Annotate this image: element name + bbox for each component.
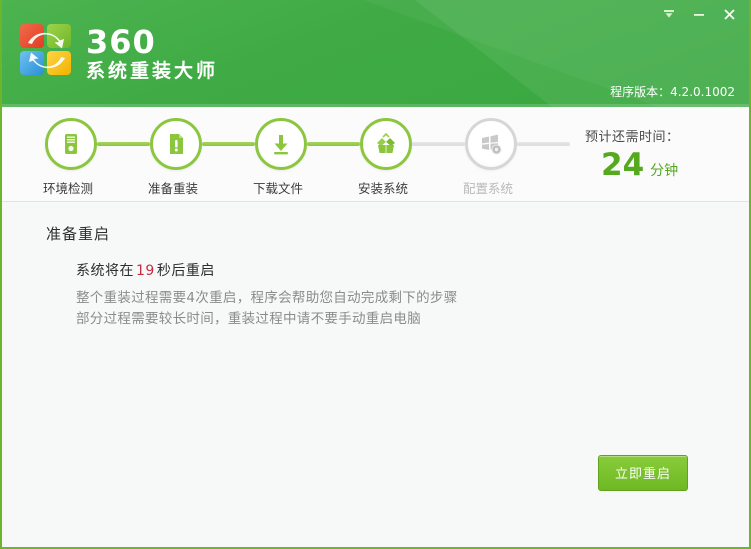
step-label: 环境检测: [42, 178, 94, 197]
brand-text: 360 系统重装大师: [86, 24, 218, 83]
time-estimate-value: 24分钟: [585, 149, 735, 181]
title-header: 360 系统重装大师 程序版本：4.2.0.1002: [0, 0, 751, 107]
step-progress-bar: 环境检测 准备重装: [2, 107, 749, 202]
step-connector-5: [517, 142, 570, 146]
step-connector-3: [307, 142, 360, 146]
step-label: 下载文件: [252, 178, 304, 197]
step-connector-2: [202, 142, 255, 146]
step-connector-4: [412, 142, 465, 146]
info-line-1: 整个重装过程需要4次重启，程序会帮助您自动完成剩下的步骤: [76, 288, 458, 309]
step-item-prepare-reinstall[interactable]: 准备重装: [150, 118, 202, 197]
time-estimate: 预计还需时间： 24分钟: [585, 126, 735, 181]
step-item-configure-system[interactable]: 配置系统: [465, 118, 517, 197]
countdown-prefix: 系统将在: [76, 263, 134, 279]
brand-number: 360: [86, 25, 218, 59]
page-title: 准备重启: [46, 223, 110, 244]
countdown-line: 系统将在19秒后重启: [76, 260, 215, 280]
restart-now-button[interactable]: 立即重启: [598, 455, 688, 491]
windows-flag-gear-icon: [478, 131, 504, 157]
step-ring: [360, 118, 412, 170]
360-four-square-refresh-logo: [20, 24, 73, 77]
chevron-down-icon[interactable]: [655, 2, 683, 26]
step-ring: [45, 118, 97, 170]
step-list: 环境检测 准备重装: [45, 118, 570, 197]
step-item-environment-check[interactable]: 环境检测: [45, 118, 97, 197]
window-controls: [655, 2, 743, 26]
brand-subtitle: 系统重装大师: [86, 60, 218, 83]
main-content: 准备重启 系统将在19秒后重启 整个重装过程需要4次重启，程序会帮助您自动完成剩…: [2, 203, 749, 547]
info-line-2: 部分过程需要较长时间，重装过程中请不要手动重启电脑: [76, 309, 458, 330]
step-item-install-system[interactable]: 安装系统: [360, 118, 412, 197]
countdown-suffix: 秒后重启: [157, 263, 215, 279]
app-window: 360 系统重装大师 程序版本：4.2.0.1002 环境检测: [0, 0, 751, 549]
brand-logo: 360 系统重装大师: [20, 24, 218, 83]
version-label: 程序版本：4.2.0.1002: [610, 83, 735, 100]
time-estimate-label: 预计还需时间：: [585, 126, 735, 145]
step-label: 安装系统: [357, 178, 409, 197]
time-estimate-number: 24: [601, 147, 644, 183]
action-row: 立即重启: [598, 455, 688, 491]
computer-tower-icon: [58, 131, 84, 157]
document-exclamation-icon: [163, 131, 189, 157]
close-icon[interactable]: [715, 2, 743, 26]
step-item-download-files[interactable]: 下载文件: [255, 118, 307, 197]
open-package-icon: [373, 131, 399, 157]
step-ring: [150, 118, 202, 170]
step-ring: [255, 118, 307, 170]
step-connector-1: [97, 142, 150, 146]
stepbar-divider: [2, 201, 749, 202]
step-ring: [465, 118, 517, 170]
step-label: 配置系统: [462, 178, 514, 197]
download-arrow-icon: [268, 131, 294, 157]
countdown-seconds: 19: [136, 263, 155, 279]
step-label: 准备重装: [147, 178, 199, 197]
time-estimate-unit: 分钟: [650, 163, 678, 179]
minimize-icon[interactable]: [685, 2, 713, 26]
logo-refresh-arrows: [20, 24, 73, 77]
info-text-block: 整个重装过程需要4次重启，程序会帮助您自动完成剩下的步骤 部分过程需要较长时间，…: [76, 288, 458, 330]
